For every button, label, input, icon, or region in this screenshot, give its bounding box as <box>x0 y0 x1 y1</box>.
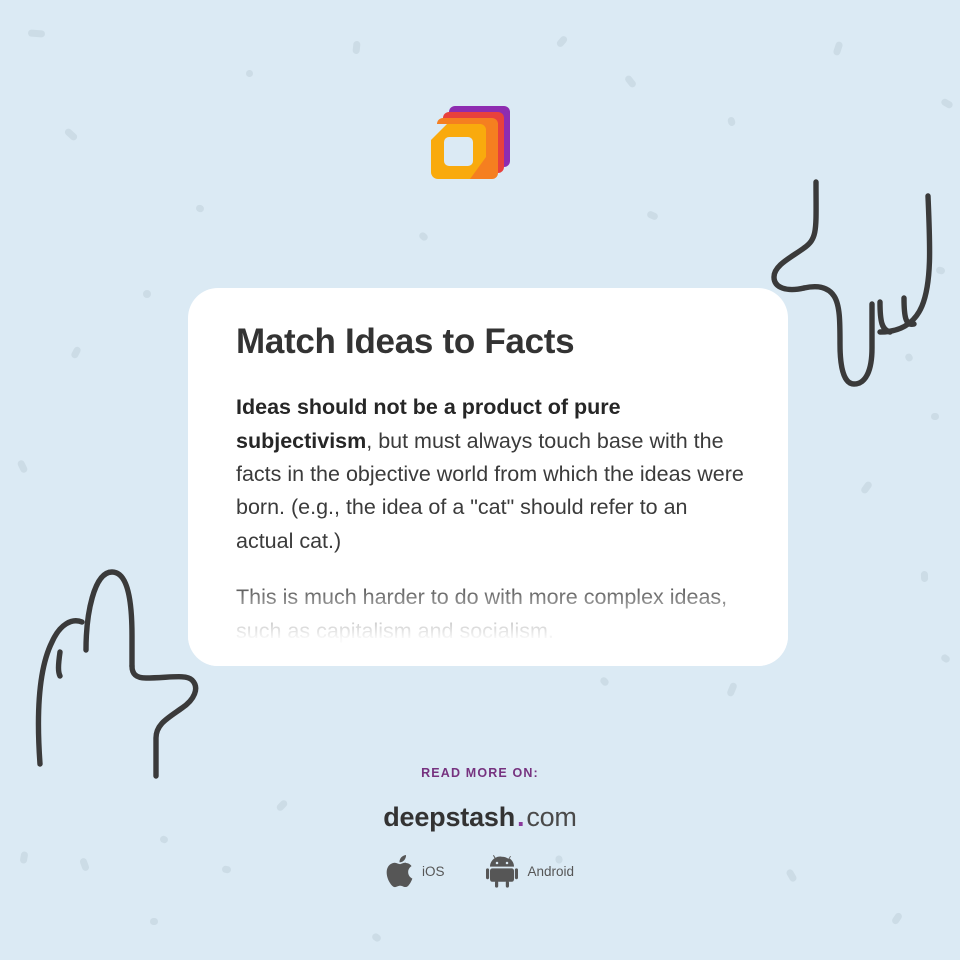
background-speck <box>143 290 151 298</box>
footer: READ MORE ON: deepstash.com iOS <box>0 766 960 888</box>
background-speck <box>727 116 736 127</box>
idea-paragraph-1: Ideas should not be a product of pure su… <box>236 391 746 558</box>
background-speck <box>726 682 738 698</box>
apple-icon <box>386 855 413 888</box>
android-icon <box>486 855 518 888</box>
idea-card-content: Match Ideas to Facts Ideas should not be… <box>188 288 788 666</box>
background-speck <box>555 35 568 49</box>
wordmark-dot: . <box>515 802 526 832</box>
background-speck <box>17 459 29 474</box>
hand-left-index-finger <box>86 572 132 666</box>
background-speck <box>940 653 951 664</box>
background-speck <box>418 231 429 242</box>
hand-right-index-finger <box>774 182 816 290</box>
logo-svg <box>424 100 524 200</box>
background-speck <box>935 266 946 275</box>
deepstash-cube-logo[interactable] <box>424 100 524 200</box>
deepstash-wordmark[interactable]: deepstash.com <box>0 804 960 831</box>
background-speck <box>28 29 45 37</box>
wordmark-name: deepstash <box>383 802 515 832</box>
hand-left-pinky <box>39 621 83 764</box>
hand-left-palm-edge <box>132 666 196 776</box>
wordmark-tld: com <box>526 802 576 832</box>
background-speck <box>246 70 253 77</box>
background-speck <box>860 480 873 495</box>
android-app-link[interactable]: Android <box>486 855 574 888</box>
ios-app-link[interactable]: iOS <box>386 855 445 888</box>
background-speck <box>931 413 939 420</box>
hand-right-finger-3 <box>904 298 914 324</box>
background-speck <box>833 41 844 56</box>
logo-inner-hole <box>444 137 473 166</box>
background-speck <box>646 210 659 221</box>
ios-label: iOS <box>422 864 445 879</box>
idea-card[interactable]: Match Ideas to Facts Ideas should not be… <box>188 288 788 666</box>
read-more-label: READ MORE ON: <box>0 766 960 780</box>
background-speck <box>921 571 928 582</box>
hand-right-thumb <box>880 196 930 332</box>
background-speck <box>63 127 78 142</box>
background-speck <box>70 346 82 360</box>
background-speck <box>904 352 914 362</box>
background-speck <box>150 918 158 925</box>
background-speck <box>599 676 610 687</box>
idea-paragraph-2-text: This is much harder to do with more comp… <box>236 585 727 642</box>
background-speck <box>371 932 382 943</box>
idea-paragraph-2: This is much harder to do with more comp… <box>236 581 746 648</box>
background-speck <box>352 41 360 55</box>
hand-left-finger-2 <box>59 652 61 676</box>
app-store-links: iOS Android <box>0 855 960 888</box>
background-speck <box>891 912 904 926</box>
background-speck <box>624 74 638 89</box>
android-label: Android <box>527 864 574 879</box>
background-speck <box>940 97 954 109</box>
hand-right-palm <box>804 287 872 384</box>
page-title: Match Ideas to Facts <box>236 322 746 361</box>
background-speck <box>195 204 205 213</box>
hand-right-finger-2 <box>880 302 890 332</box>
poster-canvas: Match Ideas to Facts Ideas should not be… <box>0 0 960 960</box>
